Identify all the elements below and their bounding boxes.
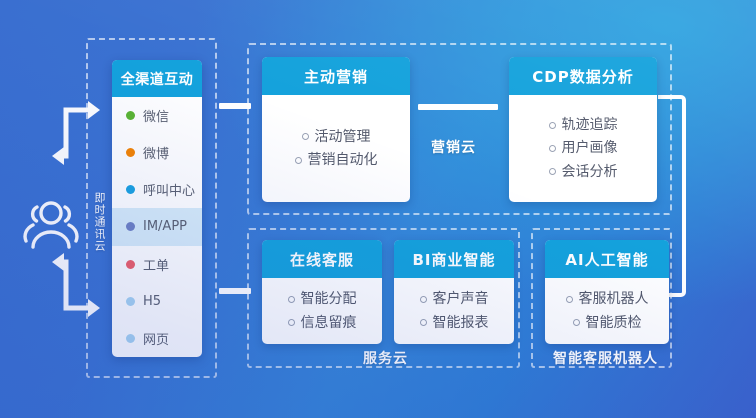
bullet-label: 轨迹追踪: [562, 117, 618, 133]
diagram-canvas: 即时通讯云 全渠道互动 微信 微博 呼叫中心 IM/APP 工单: [0, 0, 756, 418]
bullet-ring-icon: [566, 296, 573, 303]
bullet-label: 智能分配: [301, 291, 357, 307]
card-active-marketing[interactable]: 主动营销 活动管理 营销自动化: [262, 57, 410, 202]
bullet-ring-icon: [573, 319, 580, 326]
channel-label: 呼叫中心: [143, 180, 195, 199]
bullet-ring-icon: [549, 145, 556, 152]
channel-label: IM/APP: [143, 219, 187, 234]
card-body: 客服机器人 智能质检: [545, 278, 669, 344]
bullet-label: 智能质检: [586, 315, 642, 331]
card-header: CDP数据分析: [509, 57, 657, 95]
card-bullet: 轨迹追踪: [549, 117, 618, 133]
channel-dot: [126, 148, 135, 157]
bullet-label: 用户画像: [562, 140, 618, 156]
bullet-ring-icon: [549, 122, 556, 129]
card-bullet: 活动管理: [302, 129, 371, 145]
people-icon: [20, 195, 82, 253]
channel-label: 微博: [143, 143, 169, 162]
channel-dot: [126, 222, 135, 231]
channel-dot: [126, 111, 135, 120]
bullet-ring-icon: [420, 296, 427, 303]
card-cdp-analytics[interactable]: CDP数据分析 轨迹追踪 用户画像 会话分析: [509, 57, 657, 202]
channel-list: 微信 微博 呼叫中心 IM/APP 工单 H5: [112, 97, 202, 357]
label-service-cloud: 服务云: [363, 348, 408, 368]
channel-label: H5: [143, 294, 161, 309]
card-bullet: 智能报表: [420, 315, 489, 331]
card-bullet: 营销自动化: [295, 152, 378, 168]
instant-messaging-cloud-label: 即时通讯云: [92, 192, 106, 252]
bullet-label: 会话分析: [562, 164, 618, 180]
card-body: 活动管理 营销自动化: [262, 95, 410, 202]
channel-label: 微信: [143, 106, 169, 125]
channel-label: 工单: [143, 255, 169, 274]
card-header: 在线客服: [262, 240, 382, 278]
card-bullet: 客户声音: [420, 291, 489, 307]
card-header: AI人工智能: [545, 240, 669, 278]
bullet-label: 信息留痕: [301, 315, 357, 331]
card-bullet: 客服机器人: [566, 291, 649, 307]
channel-item-call-center[interactable]: 呼叫中心: [112, 171, 202, 208]
connector-marketing-cards: [418, 104, 498, 110]
bullet-ring-icon: [288, 319, 295, 326]
channel-dot: [126, 260, 135, 269]
channel-item-webpage[interactable]: 网页: [112, 320, 202, 357]
card-body: 智能分配 信息留痕: [262, 278, 382, 344]
bullet-ring-icon: [288, 296, 295, 303]
omnichannel-panel: 全渠道互动 微信 微博 呼叫中心 IM/APP 工单: [112, 60, 202, 357]
card-header: 主动营销: [262, 57, 410, 95]
channel-dot: [126, 185, 135, 194]
card-ai-artificial-intelligence[interactable]: AI人工智能 客服机器人 智能质检: [545, 240, 669, 344]
bullet-ring-icon: [420, 319, 427, 326]
bullet-label: 智能报表: [433, 315, 489, 331]
channel-label: 网页: [143, 329, 169, 348]
card-header: BI商业智能: [394, 240, 514, 278]
channel-item-wechat[interactable]: 微信: [112, 97, 202, 134]
card-bi-intelligence[interactable]: BI商业智能 客户声音 智能报表: [394, 240, 514, 344]
card-body: 轨迹追踪 用户画像 会话分析: [509, 95, 657, 202]
card-body: 客户声音 智能报表: [394, 278, 514, 344]
card-bullet: 会话分析: [549, 164, 618, 180]
card-bullet: 信息留痕: [288, 315, 357, 331]
label-marketing-cloud: 营销云: [431, 137, 476, 157]
card-bullet: 用户画像: [549, 140, 618, 156]
bullet-label: 客服机器人: [579, 291, 649, 307]
bullet-label: 客户声音: [433, 291, 489, 307]
channel-item-work-order[interactable]: 工单: [112, 246, 202, 283]
channel-dot: [126, 334, 135, 343]
card-bullet: 智能质检: [573, 315, 642, 331]
bullet-ring-icon: [549, 168, 556, 175]
bullet-ring-icon: [295, 157, 302, 164]
card-bullet: 智能分配: [288, 291, 357, 307]
channel-dot: [126, 297, 135, 306]
card-online-service[interactable]: 在线客服 智能分配 信息留痕: [262, 240, 382, 344]
channel-item-weibo[interactable]: 微博: [112, 134, 202, 171]
label-ai-robot-cloud: 智能客服机器人: [553, 348, 658, 368]
omnichannel-panel-header: 全渠道互动: [112, 60, 202, 97]
bullet-ring-icon: [302, 133, 309, 140]
bullet-label: 活动管理: [315, 129, 371, 145]
channel-item-im-app[interactable]: IM/APP: [112, 208, 202, 245]
connector-left-bottom: [219, 288, 251, 294]
connector-left-top: [219, 103, 251, 109]
channel-item-h5[interactable]: H5: [112, 283, 202, 320]
bullet-label: 营销自动化: [308, 152, 378, 168]
